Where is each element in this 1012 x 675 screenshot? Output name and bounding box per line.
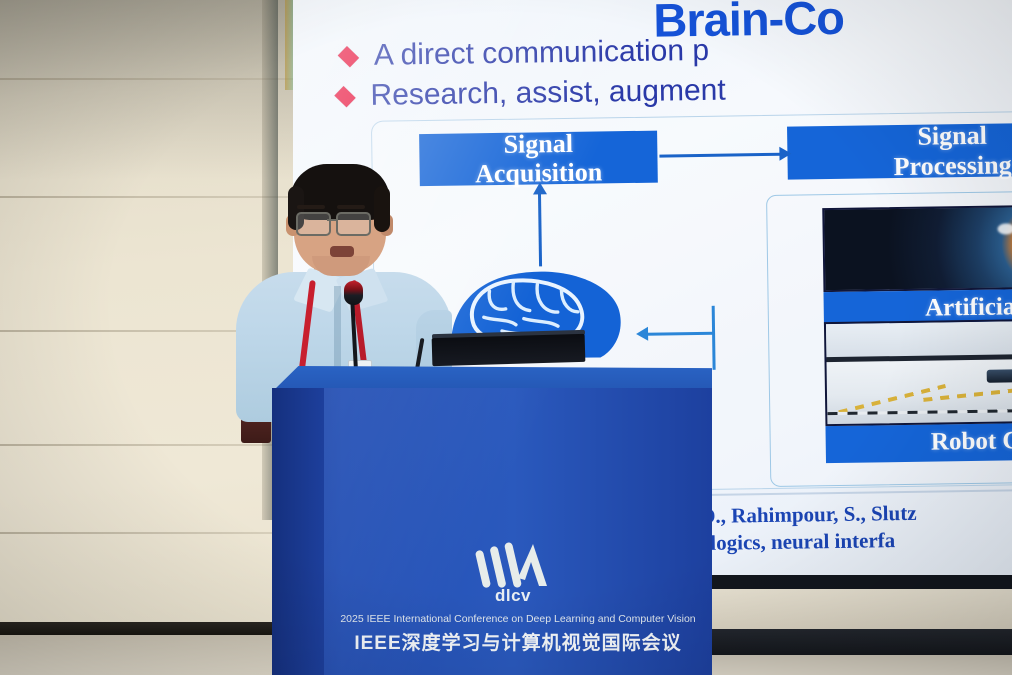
podium-side-panel <box>272 388 324 675</box>
slide-bullet-1: A direct communication p <box>340 34 710 73</box>
speaker-eyebrow-left <box>297 205 325 209</box>
glasses-lens-right <box>336 212 371 236</box>
wall-seam <box>0 444 300 446</box>
arrowhead-right-icon <box>779 147 791 161</box>
conference-title-en: 2025 IEEE International Conference on De… <box>324 613 712 625</box>
floor <box>0 635 276 675</box>
diagram-box-signal-acquisition: Signal Acquisition <box>419 131 658 187</box>
eye-highlight <box>997 223 1012 234</box>
wall-shadow <box>0 0 300 180</box>
conference-photo-scene: Brain-Co A direct communication p Resear… <box>0 0 1012 675</box>
slide-bullet-2-text: Research, assist, augment <box>370 74 726 113</box>
media-label-robot-control: Robot C <box>825 422 1012 463</box>
box-line-1: Signal <box>474 128 602 159</box>
arrowhead-left-icon <box>636 327 648 341</box>
laptop <box>432 334 586 366</box>
robot-track-image <box>824 318 1012 426</box>
robot-vehicle <box>987 369 1012 382</box>
glasses-bridge <box>327 219 338 221</box>
wall-seam <box>0 78 300 80</box>
eye-image <box>822 204 1012 292</box>
speaker-hair-side-right <box>374 186 390 232</box>
speaker-mouth <box>330 246 354 257</box>
diamond-bullet-icon <box>338 46 359 67</box>
slide-bullet-1-text: A direct communication p <box>374 34 710 73</box>
diamond-bullet-icon <box>334 86 355 107</box>
slide-bullet-2: Research, assist, augment <box>336 74 726 114</box>
dlcv-logo-icon <box>473 540 553 588</box>
wall-seam <box>0 532 300 534</box>
media-card-artificial-vision: Artificial <box>822 204 1012 329</box>
glasses-lens-left <box>296 212 331 236</box>
box-line-2: Processing <box>893 150 1011 181</box>
conference-title-cn: IEEE深度学习与计算机视觉国际会议 <box>324 628 712 655</box>
robot-scene-wall <box>826 320 1012 358</box>
speaker-eyebrow-right <box>337 205 365 209</box>
dlcv-wordmark: dlcv <box>473 586 553 606</box>
box-line-1: Signal <box>893 121 1011 152</box>
microphone-head-icon <box>344 281 363 305</box>
diagram-box-signal-processing: Signal Processing <box>787 122 1012 180</box>
arrowhead-up-icon <box>533 182 547 194</box>
media-card-robot-control: Robot C <box>824 318 1012 463</box>
